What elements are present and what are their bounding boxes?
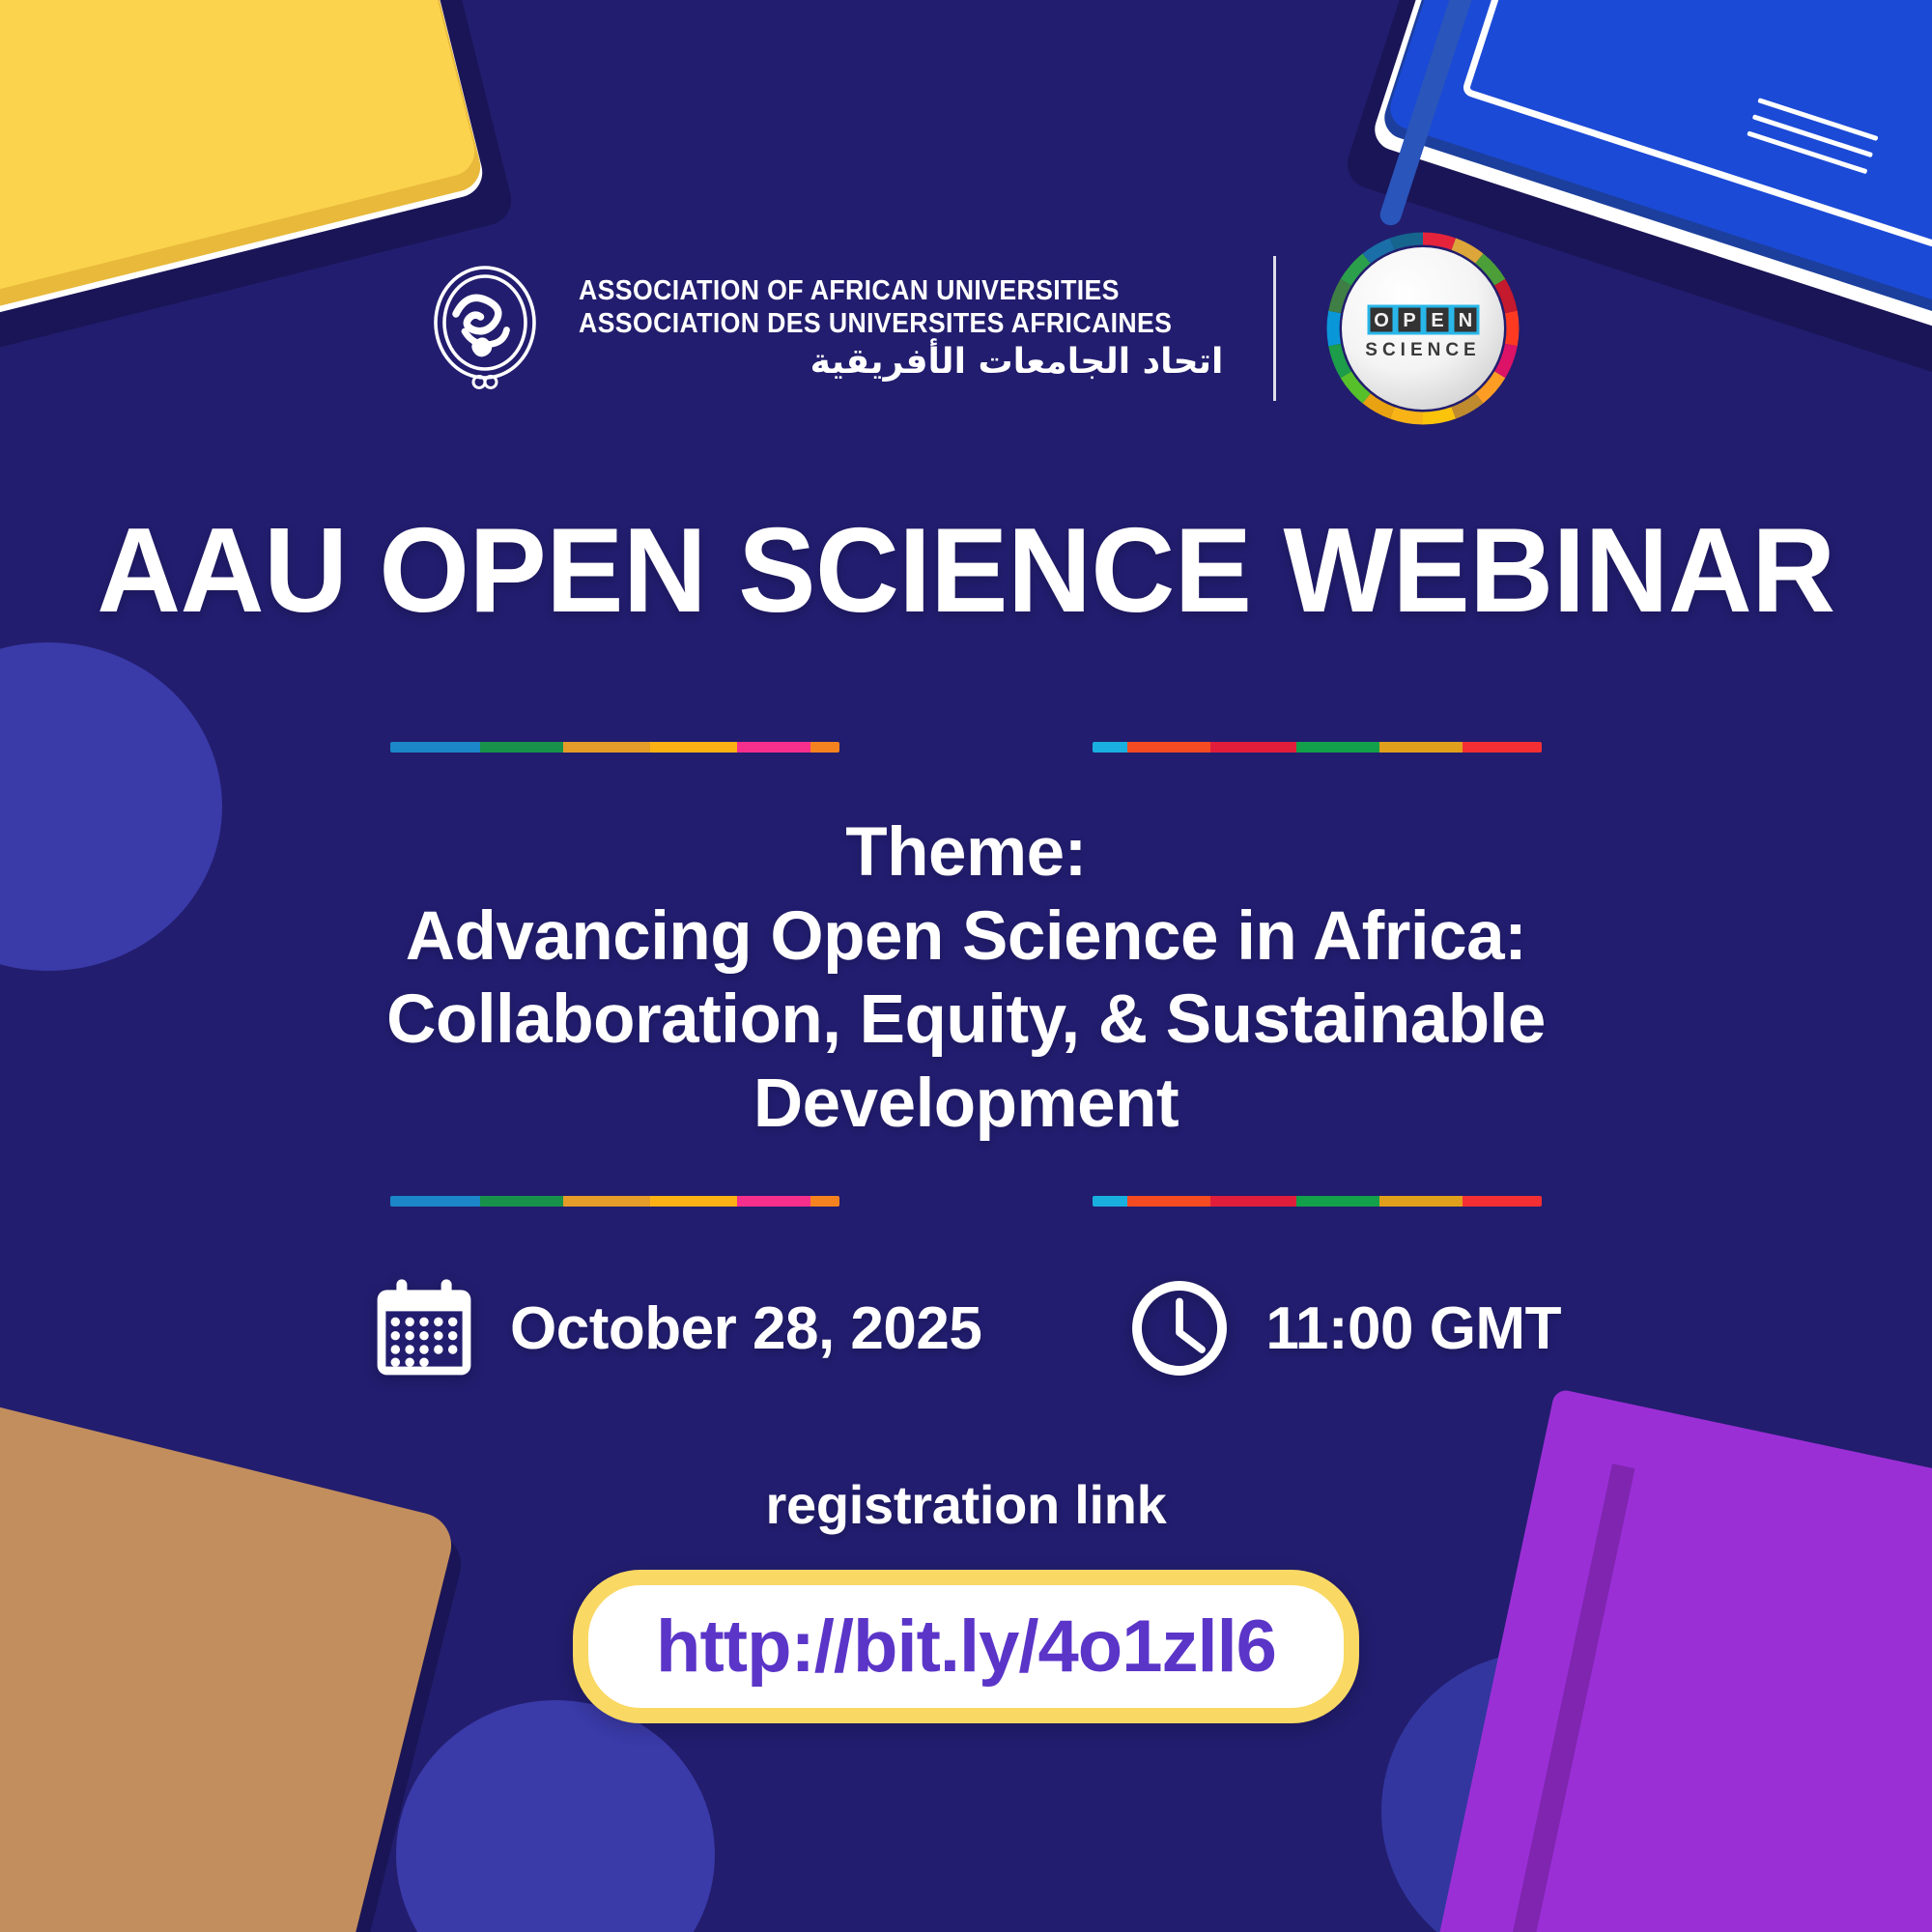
divider-segment — [1379, 742, 1463, 753]
webinar-poster: ASSOCIATION OF AFRICAN UNIVERSITIES ASSO… — [0, 0, 1932, 1932]
logo-row: ASSOCIATION OF AFRICAN UNIVERSITIES ASSO… — [0, 232, 1932, 425]
event-time: 11:00 GMT — [1126, 1275, 1561, 1381]
open-science-logo-icon: O P E N SCIENCE — [1326, 232, 1520, 425]
theme-line-2: Collaboration, Equity, & Sustainable — [328, 979, 1604, 1063]
clock-icon — [1126, 1275, 1233, 1381]
logo-separator — [1273, 256, 1276, 401]
registration-url[interactable]: http://bit.ly/4o1zll6 — [656, 1605, 1276, 1689]
divider-bar-right — [1093, 1196, 1542, 1207]
divider-segment — [480, 742, 563, 753]
divider-segment — [1463, 1196, 1542, 1207]
aau-logo: ASSOCIATION OF AFRICAN UNIVERSITIES ASSO… — [412, 256, 1224, 401]
registration-label: registration link — [0, 1473, 1932, 1536]
divider-segment — [650, 1196, 737, 1207]
divider-segment — [563, 742, 650, 753]
divider-segment — [1296, 1196, 1379, 1207]
event-date: October 28, 2025 — [371, 1275, 981, 1381]
svg-text:P: P — [1404, 310, 1416, 331]
page-title: AAU OPEN SCIENCE WEBINAR — [29, 502, 1903, 639]
aau-name-ar: اتحاد الجامعات الأفريقية — [579, 343, 1224, 382]
registration-pill-wrap: http://bit.ly/4o1zll6 — [0, 1570, 1932, 1723]
divider-segment — [1210, 742, 1296, 753]
divider-segment — [810, 1196, 839, 1207]
aau-wordmark: ASSOCIATION OF AFRICAN UNIVERSITIES ASSO… — [579, 276, 1224, 381]
calendar-icon — [371, 1275, 477, 1381]
divider-segment — [480, 1196, 563, 1207]
aau-name-fr: ASSOCIATION DES UNIVERSITES AFRICAINES — [579, 309, 1172, 339]
poster-content: ASSOCIATION OF AFRICAN UNIVERSITIES ASSO… — [0, 0, 1932, 1932]
divider-segment — [1127, 742, 1210, 753]
divider-bar-right — [1093, 742, 1542, 753]
theme-block: Theme: Advancing Open Science in Africa:… — [328, 811, 1604, 1146]
aau-name-en: ASSOCIATION OF AFRICAN UNIVERSITIES — [579, 276, 1172, 306]
open-science-logo: O P E N SCIENCE — [1326, 232, 1520, 425]
divider-segment — [737, 1196, 810, 1207]
divider-segment — [563, 1196, 650, 1207]
divider-bar-left — [390, 742, 839, 753]
divider-segment — [390, 742, 480, 753]
divider-segment — [390, 1196, 480, 1207]
theme-line-1: Advancing Open Science in Africa: — [328, 895, 1604, 980]
divider-row-bottom — [0, 1196, 1932, 1207]
event-date-text: October 28, 2025 — [510, 1294, 981, 1363]
svg-text:E: E — [1432, 310, 1444, 331]
event-meta-row: October 28, 2025 11:00 GMT — [0, 1275, 1932, 1381]
divider-segment — [737, 742, 810, 753]
divider-segment — [1093, 742, 1127, 753]
divider-row-top — [0, 742, 1932, 753]
theme-line-3: Development — [328, 1063, 1604, 1147]
aau-emblem-icon — [412, 256, 557, 401]
registration-link-button[interactable]: http://bit.ly/4o1zll6 — [573, 1570, 1359, 1723]
divider-segment — [1093, 1196, 1127, 1207]
open-science-subtitle: SCIENCE — [1366, 340, 1481, 360]
divider-segment — [1379, 1196, 1463, 1207]
svg-text:N: N — [1459, 310, 1472, 331]
event-time-text: 11:00 GMT — [1265, 1294, 1561, 1363]
divider-segment — [810, 742, 839, 753]
svg-text:O: O — [1375, 310, 1390, 331]
divider-segment — [1296, 742, 1379, 753]
divider-bar-left — [390, 1196, 839, 1207]
divider-segment — [1127, 1196, 1210, 1207]
theme-label: Theme: — [328, 811, 1604, 895]
divider-segment — [1210, 1196, 1296, 1207]
divider-segment — [1463, 742, 1542, 753]
divider-segment — [650, 742, 737, 753]
